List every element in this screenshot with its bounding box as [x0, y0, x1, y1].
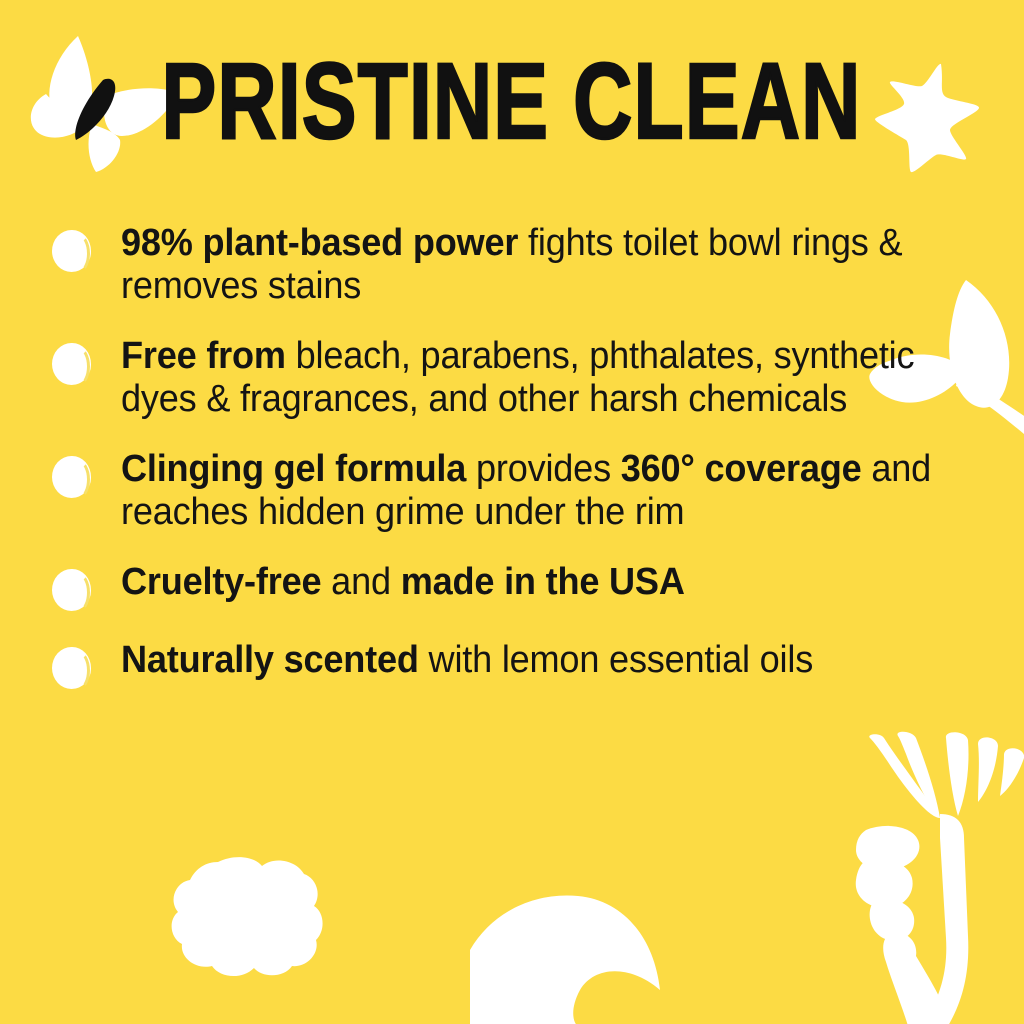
- page-title-wrap: PRISTINE CLEAN: [0, 46, 1024, 156]
- product-benefits-poster: PRISTINE CLEAN 98% plant-based power fig…: [0, 0, 1024, 1024]
- benefit-text: 98% plant-based power fights toilet bowl…: [121, 222, 941, 307]
- list-item: Clinging gel formula provides 360° cover…: [0, 448, 1024, 533]
- benefit-text: Free from bleach, parabens, phthalates, …: [121, 335, 941, 420]
- benefit-text: Cruelty-free and made in the USA: [121, 561, 941, 604]
- bullet-circle-icon: [52, 343, 91, 385]
- bullet-circle-icon: [52, 569, 91, 611]
- benefit-emphasis: Naturally scented: [121, 639, 419, 681]
- flower-blob-icon: [150, 848, 340, 988]
- benefit-emphasis-2: made in the USA: [401, 561, 685, 603]
- benefit-rest: provides: [466, 448, 621, 490]
- benefits-list: 98% plant-based power fights toilet bowl…: [0, 222, 1024, 689]
- benefit-emphasis: Clinging gel formula: [121, 448, 466, 490]
- benefit-emphasis: Cruelty-free: [121, 561, 321, 603]
- bullet-circle-icon: [52, 647, 91, 689]
- benefit-rest: with lemon essential oils: [419, 639, 813, 681]
- benefit-emphasis-2: 360° coverage: [621, 448, 862, 490]
- bullet-circle-icon: [52, 230, 91, 272]
- list-item: Naturally scented with lemon essential o…: [0, 639, 1024, 689]
- page-title: PRISTINE CLEAN: [162, 46, 862, 156]
- benefit-text: Naturally scented with lemon essential o…: [121, 639, 941, 682]
- benefit-text: Clinging gel formula provides 360° cover…: [121, 448, 941, 533]
- benefit-emphasis: 98% plant-based power: [121, 222, 518, 264]
- wave-swoosh-icon: [470, 878, 910, 1024]
- benefit-rest: and: [321, 561, 400, 603]
- dandelion-icon: [836, 726, 1024, 1024]
- list-item: 98% plant-based power fights toilet bowl…: [0, 222, 1024, 307]
- benefit-emphasis: Free from: [121, 335, 286, 377]
- bullet-circle-icon: [52, 456, 91, 498]
- list-item: Free from bleach, parabens, phthalates, …: [0, 335, 1024, 420]
- list-item: Cruelty-free and made in the USA: [0, 561, 1024, 611]
